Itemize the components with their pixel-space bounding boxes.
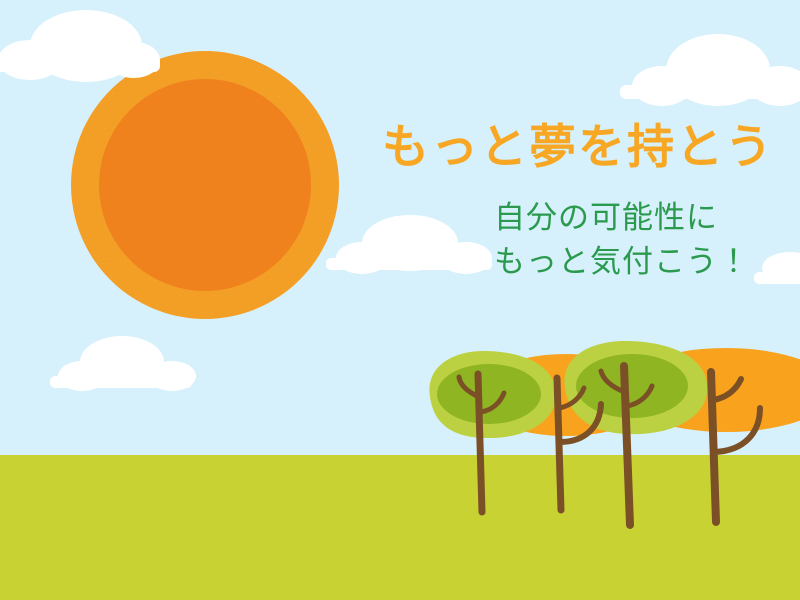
tree-1-canopy [429, 351, 556, 438]
grass-ground [0, 455, 800, 600]
sun [71, 51, 339, 319]
illustration-scene [0, 0, 800, 600]
sun-inner-disc [99, 79, 311, 291]
tree-3-canopy-inner [576, 354, 688, 418]
poster-canvas: もっと夢を持とう 自分の可能性に もっと気付こう！ [0, 0, 800, 600]
tree-1-canopy-inner [437, 364, 541, 424]
